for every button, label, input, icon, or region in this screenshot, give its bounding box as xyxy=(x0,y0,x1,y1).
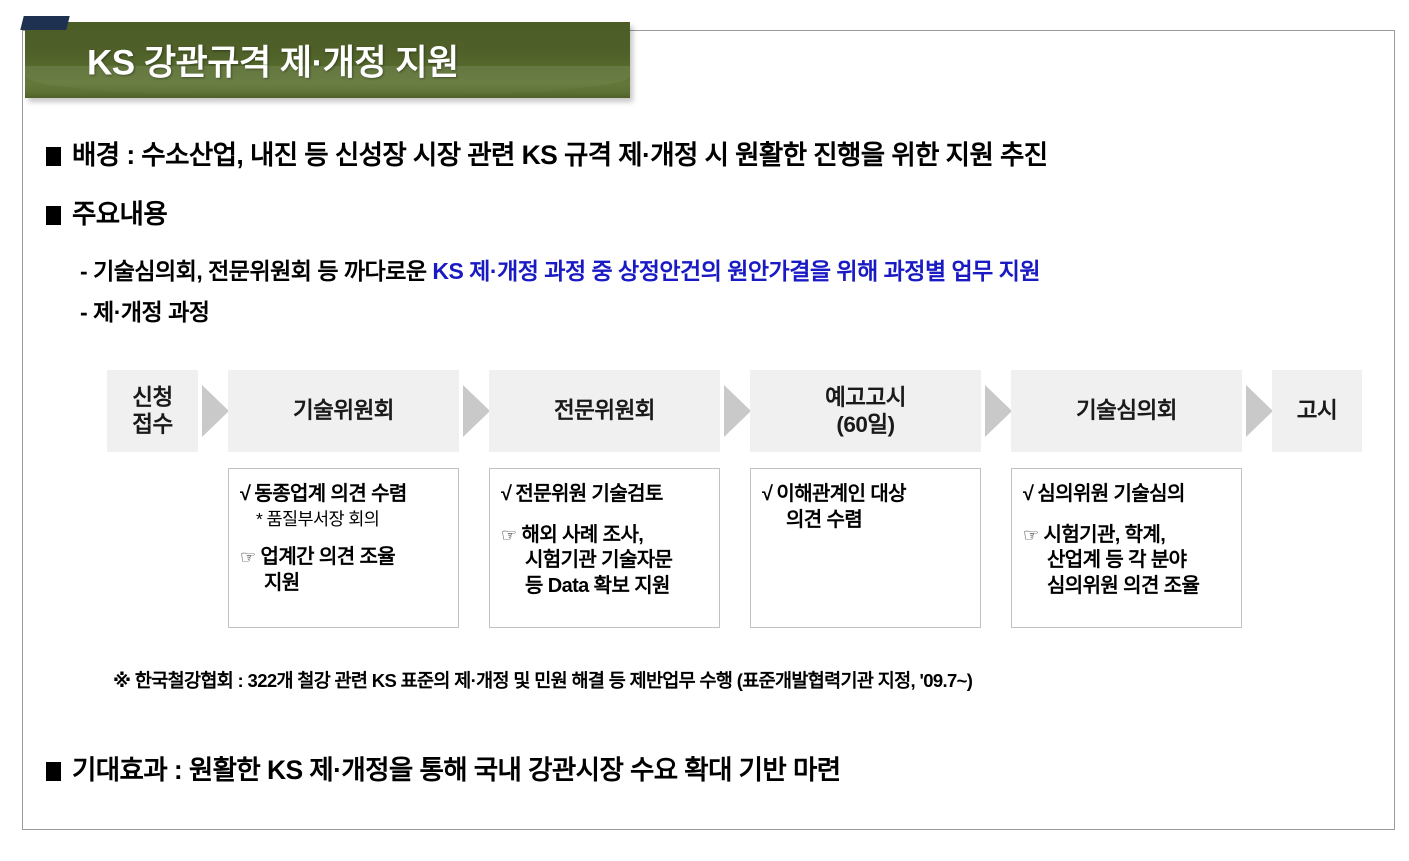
detail-line: √전문위원 기술검토 xyxy=(501,482,709,508)
detail-text: 등 Data 확보 지원 xyxy=(525,575,670,597)
item-2-text: 제·개정 과정 xyxy=(93,299,209,325)
detail-line: 등 Data 확보 지원 xyxy=(501,574,709,600)
dash-marker: - xyxy=(80,299,87,325)
flow-arrow-icon-3 xyxy=(724,385,751,437)
reference-mark-icon: ※ xyxy=(113,670,130,691)
title-banner: KS 강관규격 제·개정 지원 xyxy=(25,22,630,98)
main-content-heading: 주요내용 xyxy=(72,192,167,231)
footnote-text: 한국철강협회 : 322개 철강 관련 KS 표준의 제·개정 및 민원 해결 … xyxy=(135,670,972,691)
detail-text: 품질부서장 회의 xyxy=(266,509,379,529)
detail-line: 지원 xyxy=(240,571,448,597)
check-mark-icon: √ xyxy=(1023,483,1033,505)
asterisk-icon: * xyxy=(256,509,262,529)
flow-arrow-icon-4 xyxy=(985,385,1012,437)
flow-step-notification[interactable]: 고시 xyxy=(1272,370,1362,452)
expected-effect-bullet-row: 기대효과 : 원활한 KS 제·개정을 통해 국내 강관시장 수요 확대 기반 … xyxy=(46,748,841,787)
flow-step-tech-committee[interactable]: 기술위원회 xyxy=(228,370,459,452)
square-bullet-icon xyxy=(46,206,61,225)
spacer xyxy=(501,508,709,523)
background-bullet-row: 배경 : 수소산업, 내진 등 신성장 시장 관련 KS 규격 제·개정 시 원… xyxy=(46,133,1048,172)
detail-line: √동종업계 의견 수렴 xyxy=(240,482,448,508)
flow-arrow-icon-5 xyxy=(1246,385,1273,437)
detail-box-tech-deliberation[interactable]: √심의위원 기술심의 ☞시험기관, 학계, 산업계 등 각 분야 심의위원 의견… xyxy=(1011,468,1242,628)
detail-box-public-notice[interactable]: √이해관계인 대상 의견 수렴 xyxy=(750,468,981,628)
item-1-highlight-text: KS 제·개정 과정 중 상정안건의 원안가결을 위해 과정별 업무 지원 xyxy=(432,258,1040,284)
detail-text: 심의위원 기술심의 xyxy=(1037,483,1184,505)
detail-text: 산업계 등 각 분야 xyxy=(1047,549,1186,571)
detail-box-expert-committee[interactable]: √전문위원 기술검토 ☞해외 사례 조사, 시험기관 기술자문 등 Data 확… xyxy=(489,468,720,628)
detail-text: 의견 수렴 xyxy=(786,509,862,531)
pointing-hand-icon: ☞ xyxy=(1023,525,1039,545)
detail-text: 지원 xyxy=(264,572,300,594)
detail-line: 의견 수렴 xyxy=(762,508,970,534)
detail-line: 산업계 등 각 분야 xyxy=(1023,548,1231,574)
footnote: ※ 한국철강협회 : 322개 철강 관련 KS 표준의 제·개정 및 민원 해… xyxy=(113,667,972,693)
flow-step-label: 고시 xyxy=(1297,397,1337,424)
detail-line: ☞시험기관, 학계, xyxy=(1023,523,1231,549)
square-bullet-icon xyxy=(46,762,61,781)
flow-step-label: 전문위원회 xyxy=(554,397,655,424)
square-bullet-icon xyxy=(46,147,61,166)
flow-step-label: 신청접수 xyxy=(132,384,172,439)
flow-step-label: 기술위원회 xyxy=(293,397,394,424)
detail-text: 심의위원 의견 조율 xyxy=(1047,575,1199,597)
check-mark-icon: √ xyxy=(762,483,772,505)
detail-text: 전문위원 기술검토 xyxy=(515,483,662,505)
detail-line: ☞업계간 의견 조율 xyxy=(240,545,448,571)
detail-line: 심의위원 의견 조율 xyxy=(1023,574,1231,600)
detail-line: * 품질부서장 회의 xyxy=(240,508,448,530)
detail-line: ☞해외 사례 조사, xyxy=(501,523,709,549)
item-1-plain-text: 기술심의회, 전문위원회 등 까다로운 xyxy=(93,258,432,284)
flow-step-label: 기술심의회 xyxy=(1076,397,1177,424)
check-mark-icon: √ xyxy=(240,483,250,505)
detail-text: 해외 사례 조사, xyxy=(522,524,644,546)
detail-line: √심의위원 기술심의 xyxy=(1023,482,1231,508)
main-content-item-1: - 기술심의회, 전문위원회 등 까다로운 KS 제·개정 과정 중 상정안건의… xyxy=(80,252,1040,286)
page-title: KS 강관규격 제·개정 지원 xyxy=(87,35,459,86)
flow-step-expert-committee[interactable]: 전문위원회 xyxy=(489,370,720,452)
detail-text: 동종업계 의견 수렴 xyxy=(254,483,406,505)
detail-text: 이해관계인 대상 xyxy=(776,483,906,505)
flow-step-public-notice[interactable]: 예고고시(60일) xyxy=(750,370,981,452)
detail-text: 시험기관, 학계, xyxy=(1044,524,1166,546)
detail-line: 시험기관 기술자문 xyxy=(501,548,709,574)
banner-notch-decoration xyxy=(20,16,69,30)
check-mark-icon: √ xyxy=(501,483,511,505)
dash-marker: - xyxy=(80,258,87,284)
main-content-item-2: - 제·개정 과정 xyxy=(80,293,209,327)
detail-line: √이해관계인 대상 xyxy=(762,482,970,508)
spacer xyxy=(240,530,448,545)
flow-arrow-icon-1 xyxy=(202,385,229,437)
flow-step-application[interactable]: 신청접수 xyxy=(107,370,198,452)
flow-step-tech-deliberation[interactable]: 기술심의회 xyxy=(1011,370,1242,452)
main-content-bullet-row: 주요내용 xyxy=(46,192,167,231)
spacer xyxy=(1023,508,1231,523)
flow-arrow-icon-2 xyxy=(463,385,490,437)
flow-step-label: 예고고시(60일) xyxy=(825,384,906,439)
detail-text: 업계간 의견 조율 xyxy=(261,546,396,568)
pointing-hand-icon: ☞ xyxy=(240,547,256,567)
pointing-hand-icon: ☞ xyxy=(501,525,517,545)
expected-effect-text: 기대효과 : 원활한 KS 제·개정을 통해 국내 강관시장 수요 확대 기반 … xyxy=(72,748,841,787)
background-text: 배경 : 수소산업, 내진 등 신성장 시장 관련 KS 규격 제·개정 시 원… xyxy=(72,133,1048,172)
detail-text: 시험기관 기술자문 xyxy=(525,549,672,571)
detail-box-tech-committee[interactable]: √동종업계 의견 수렴 * 품질부서장 회의 ☞업계간 의견 조율 지원 xyxy=(228,468,459,628)
